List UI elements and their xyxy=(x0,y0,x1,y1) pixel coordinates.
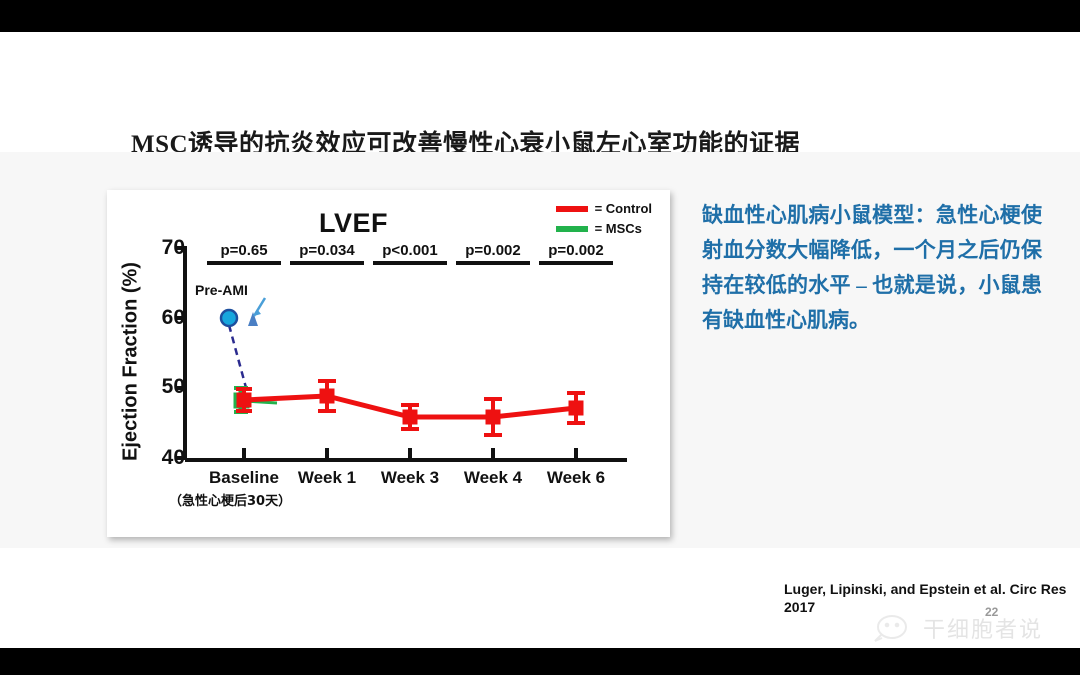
series-control xyxy=(236,381,585,435)
slide-header: MSC诱导的抗炎效应可改善慢性心衰小鼠左心室功能的证据 xyxy=(0,32,1080,152)
letterbox-bottom xyxy=(0,648,1080,675)
control-error-bars xyxy=(236,381,585,435)
pre-ami-marker xyxy=(221,310,237,326)
slide: MSC诱导的抗炎效应可改善慢性心衰小鼠左心室功能的证据 LVEF = Contr… xyxy=(0,0,1080,675)
wechat-face-icon xyxy=(872,613,918,643)
watermark: 干细胞者说 xyxy=(872,612,1043,644)
chart-figure: LVEF = Control = MSCs p=0.65 p=0.034 p<0… xyxy=(107,190,670,537)
chart-plot-svg xyxy=(107,190,670,537)
pre-ami-drop-line xyxy=(229,325,248,395)
chart-card: LVEF = Control = MSCs p=0.65 p=0.034 p<0… xyxy=(107,190,670,537)
letterbox-top xyxy=(0,0,1080,32)
explanation-text: 缺血性心肌病小鼠模型：急性心梗使射血分数大幅降低，一个月之后仍保持在较低的水平 … xyxy=(702,198,1042,338)
citation-text: Luger, Lipinski, and Epstein et al. Circ… xyxy=(784,580,1074,616)
watermark-text: 干细胞者说 xyxy=(923,612,1043,644)
